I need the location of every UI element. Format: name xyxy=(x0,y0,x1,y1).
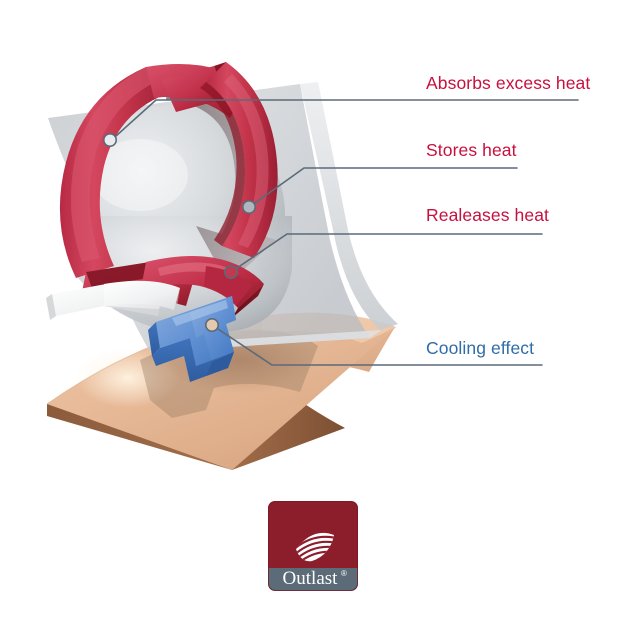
callout-dot-cooling xyxy=(206,319,218,331)
callout-label-realeases-heat: Realeases heat xyxy=(426,207,549,225)
callout-label-stores-heat: Stores heat xyxy=(426,142,517,160)
callout-dot-release xyxy=(225,266,237,278)
logo-wordmark: Outlast xyxy=(283,568,339,589)
outlast-logo-svg: Outlast ® xyxy=(268,501,358,591)
callout-label-absorbs-excess-heat: Absorbs excess heat xyxy=(426,75,590,93)
outlast-logo: Outlast ® xyxy=(268,501,358,591)
callout-label-cooling-effect: Cooling effect xyxy=(426,340,534,358)
callout-dot-absorbs xyxy=(104,134,116,146)
white-arrow xyxy=(46,281,180,320)
diagram-page: Absorbs excess heat Stores heat Realease… xyxy=(0,0,625,625)
callout-dot-stores xyxy=(243,201,255,213)
logo-trademark-icon: ® xyxy=(341,569,347,578)
